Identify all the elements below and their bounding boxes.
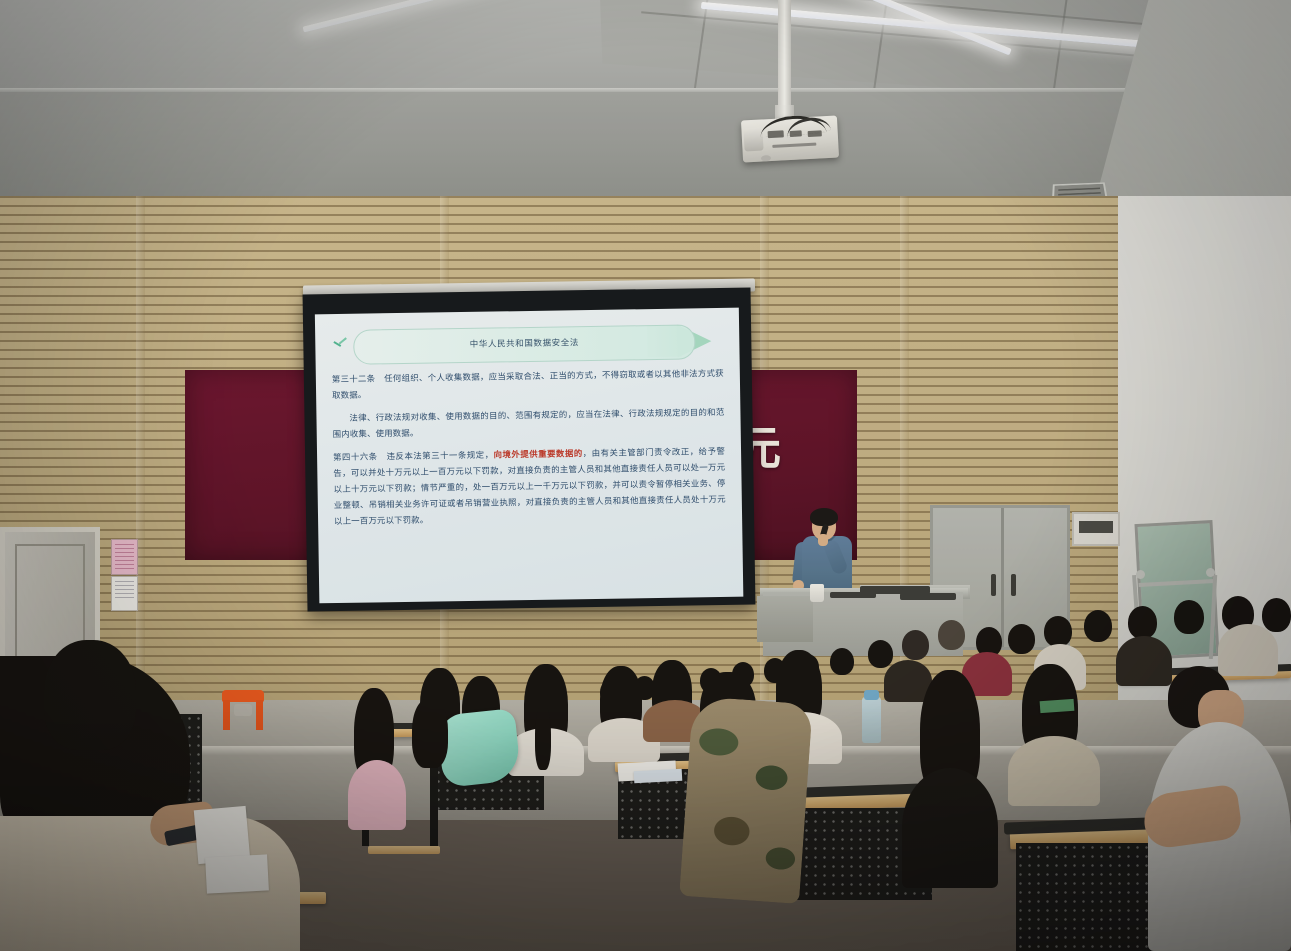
- student-head: [1084, 610, 1112, 642]
- lecture-hall-photo: 元 中华人民共和国数据安全法: [0, 0, 1291, 951]
- student-hair: [412, 698, 448, 768]
- slide-text-run: 第三十二条 任何组织、个人收集数据，应当采取合法、正当的方式，不得窃取或者以其他…: [332, 368, 724, 400]
- student-torso: [1008, 736, 1100, 806]
- student-head: [902, 630, 929, 660]
- ceiling-light-strip: [303, 0, 518, 33]
- student-torso: [1218, 624, 1278, 676]
- notebook-page: [634, 769, 683, 783]
- podium-equipment: [900, 593, 956, 600]
- wall-control-panel[interactable]: [1072, 512, 1120, 546]
- white-notice: [111, 576, 138, 611]
- board-knob: [1136, 570, 1145, 579]
- projector-mount-pole: [778, 0, 791, 112]
- student-ponytail: [535, 704, 551, 770]
- podium-equipment: [830, 592, 876, 598]
- pink-notice: [111, 539, 138, 575]
- slide-title: 中华人民共和国数据安全法: [354, 325, 694, 363]
- desk-item: [1040, 699, 1075, 713]
- student-head: [1128, 606, 1157, 639]
- bottle-cap: [864, 690, 879, 700]
- slide-text-highlight: 向境外提供重要数据的: [493, 448, 582, 459]
- student-torso: [348, 760, 406, 830]
- student-head: [1262, 598, 1291, 632]
- cup: [810, 584, 824, 602]
- slide-title-pill: 中华人民共和国数据安全法: [353, 324, 696, 364]
- student-torso: [902, 768, 998, 888]
- podium-left-shelf: [757, 596, 813, 642]
- lecturer-hand: [818, 534, 828, 546]
- student-head: [938, 620, 965, 650]
- student-hair: [44, 640, 136, 750]
- slide-paragraph-article-32: 第三十二条 任何组织、个人收集数据，应当采取合法、正当的方式，不得窃取或者以其他…: [332, 365, 724, 403]
- slide-text-run: 第四十六条 违反本法第三十一条规定，: [333, 450, 494, 463]
- bench-seat: [368, 846, 440, 854]
- student-head: [868, 640, 893, 668]
- water-bottle: [862, 697, 881, 743]
- slide-title-bar: 中华人民共和国数据安全法: [329, 324, 725, 364]
- board-knob: [1206, 568, 1215, 577]
- student-camo-jacket: [679, 696, 813, 904]
- slide-text-run: 法律、行政法规对收集、使用数据的目的、范围有规定的，应当在法律、行政法规规定的目…: [333, 407, 725, 439]
- student-head: [1044, 616, 1072, 647]
- student-head: [1174, 600, 1204, 634]
- projected-slide: 中华人民共和国数据安全法 第三十二条 任何组织、个人收集数据，应当采取合法、正当…: [315, 308, 743, 604]
- slide-paragraph-article-46: 第四十六条 违反本法第三十一条规定，向境外提供重要数据的，由有关主管部门责令改正…: [333, 443, 726, 529]
- student-torso: [1116, 636, 1172, 686]
- student-head: [1008, 624, 1035, 654]
- check-icon: [333, 339, 347, 349]
- ceiling: [0, 0, 1291, 200]
- screen-casing-dots: [715, 283, 747, 288]
- projection-screen: 中华人民共和国数据安全法 第三十二条 任何组织、个人收集数据，应当采取合法、正当…: [303, 288, 756, 612]
- notebook: [205, 854, 269, 893]
- slide-paragraph-article-32-p2: 法律、行政法规对收集、使用数据的目的、范围有规定的，应当在法律、行政法规规定的目…: [332, 404, 724, 442]
- student-head: [830, 648, 854, 675]
- orange-stool[interactable]: [222, 690, 264, 730]
